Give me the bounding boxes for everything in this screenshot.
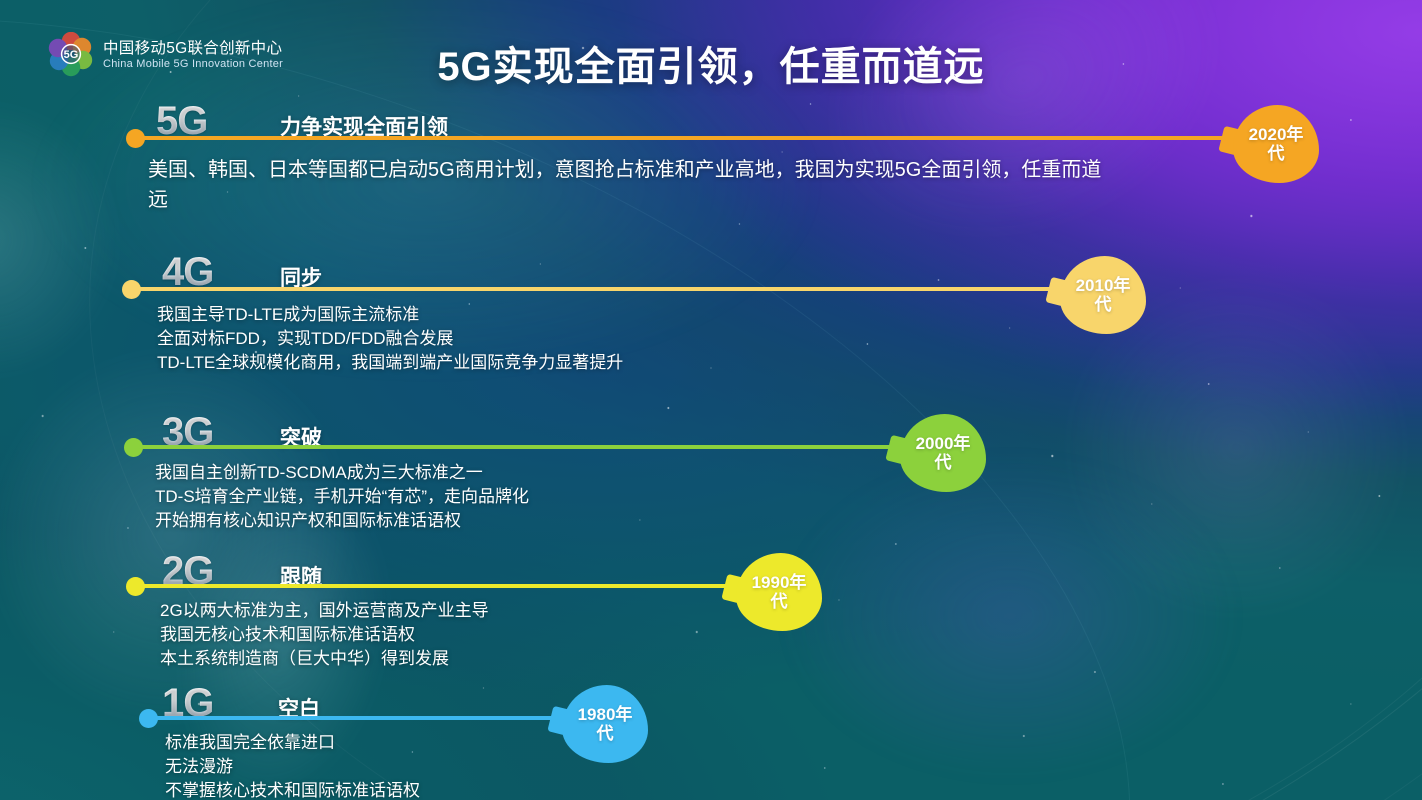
era-badge-line2: 代: [1268, 144, 1285, 163]
era-badge-2020s: 2020年 代: [1233, 105, 1319, 183]
timeline-axis-2g: [140, 584, 740, 588]
slide-root: 5G 中国移动5G联合创新中心 China Mobile 5G Innovati…: [0, 0, 1422, 800]
description-2g: 2G以两大标准为主，国外运营商及产业主导 我国无核心技术和国际标准话语权 本土系…: [160, 599, 1060, 671]
era-badge-line1: 2010年: [1076, 276, 1131, 295]
era-badge-line1: 1990年: [752, 573, 807, 592]
timeline-axis-4g: [136, 287, 1066, 291]
era-badge-2010s: 2010年 代: [1060, 256, 1146, 334]
era-badge-line1: 1980年: [578, 705, 633, 724]
starfield: [0, 0, 1422, 800]
era-badge-line1: 2000年: [916, 434, 971, 453]
timeline-axis-1g: [153, 716, 566, 720]
timeline-axis-3g: [138, 445, 904, 449]
description-1g: 标准我国完全依靠进口 无法漫游 不掌握核心技术和国际标准话语权: [165, 731, 1065, 800]
timeline-axis-5g: [140, 136, 1238, 140]
description-5g: 美国、韩国、日本等国都已启动5G商用计划，意图抢占标准和产业高地，我国为实现5G…: [148, 155, 1108, 215]
page-title: 5G实现全面引领，任重而道远: [0, 34, 1422, 92]
era-badge-line2: 代: [1095, 295, 1112, 314]
era-badge-line1: 2020年: [1249, 125, 1304, 144]
description-4g: 我国主导TD-LTE成为国际主流标准 全面对标FDD，实现TDD/FDD融合发展…: [157, 303, 1057, 375]
description-3g: 我国自主创新TD-SCDMA成为三大标准之一 TD-S培育全产业链，手机开始“有…: [155, 461, 1055, 533]
